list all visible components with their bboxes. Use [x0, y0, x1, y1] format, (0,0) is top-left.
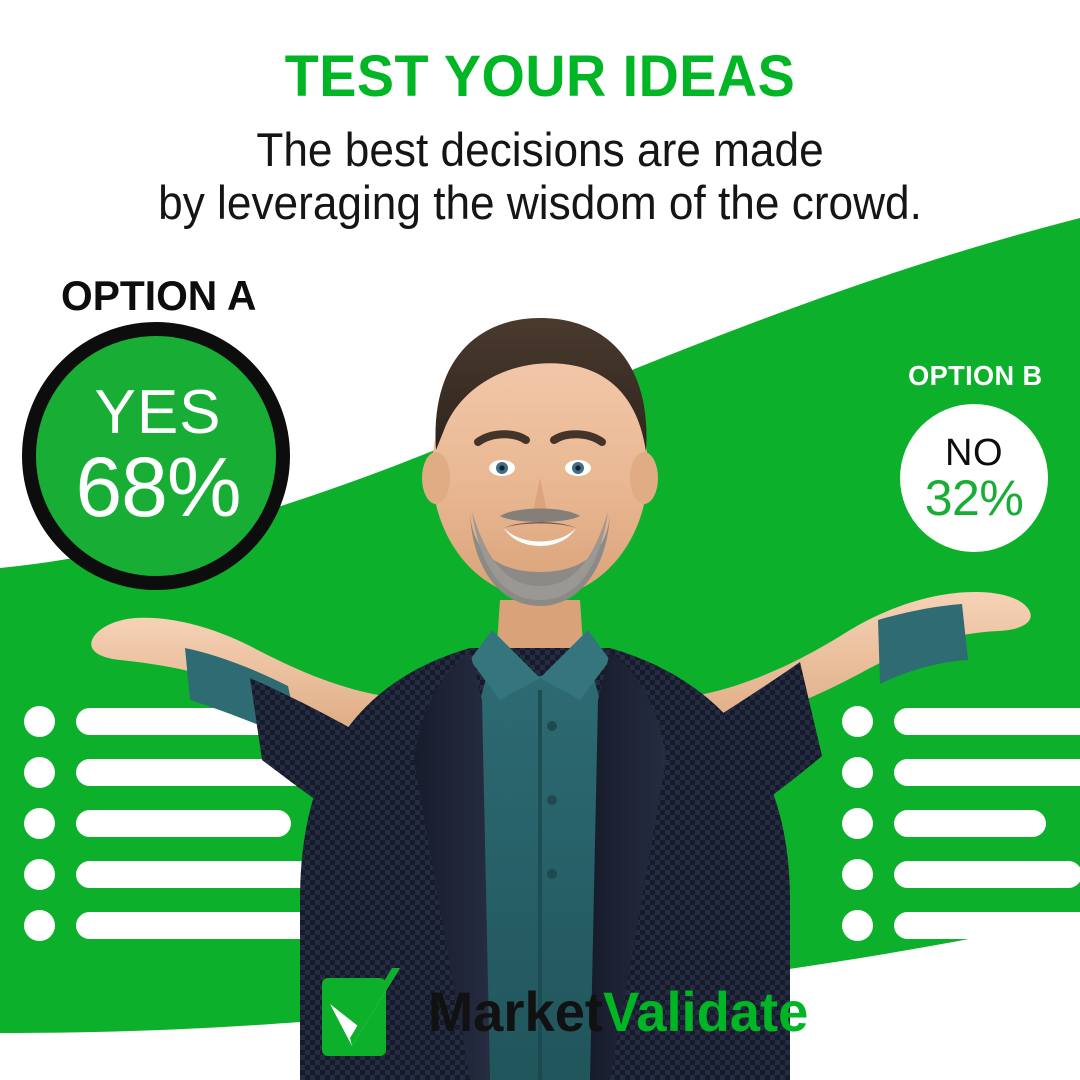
option-b-result-disc[interactable]: NO 32% [900, 404, 1048, 552]
bullet-icon [842, 859, 873, 890]
list-item [842, 859, 1080, 890]
list-item [842, 706, 1080, 737]
bullet-icon [24, 808, 55, 839]
list-placeholder-bar [894, 708, 1080, 735]
list-placeholder-bar [76, 912, 366, 939]
poster-canvas: TEST YOUR IDEAS The best decisions are m… [0, 0, 1080, 1080]
headline-block: TEST YOUR IDEAS The best decisions are m… [0, 48, 1080, 229]
list-item [842, 808, 1080, 839]
option-b-answer: NO [945, 434, 1003, 472]
brand-word-validate: Validate [603, 980, 808, 1043]
decorative-list-right [842, 706, 1080, 961]
brand-wordmark: MarketValidate [428, 984, 808, 1040]
list-placeholder-bar [76, 759, 376, 786]
bullet-icon [24, 706, 55, 737]
list-item [24, 706, 376, 737]
decorative-list-left [24, 706, 376, 961]
subtitle-line-1: The best decisions are made [32, 124, 1047, 177]
bullet-icon [24, 757, 55, 788]
list-item [842, 910, 1080, 941]
list-item [842, 757, 1080, 788]
list-placeholder-bar [894, 912, 1080, 939]
subtitle-line-2: by leveraging the wisdom of the crowd. [32, 177, 1047, 230]
checkmark-icon [322, 968, 400, 1056]
bullet-icon [842, 757, 873, 788]
list-item [24, 859, 376, 890]
page-subtitle: The best decisions are made by leveragin… [32, 124, 1047, 229]
option-a-ring [22, 322, 290, 590]
list-placeholder-bar [894, 759, 1080, 786]
bullet-icon [24, 859, 55, 890]
option-a-label: OPTION A [61, 272, 256, 320]
option-b-label: OPTION B [908, 360, 1042, 392]
list-item [24, 757, 376, 788]
bullet-icon [842, 808, 873, 839]
bullet-icon [842, 910, 873, 941]
list-item [24, 808, 376, 839]
bullet-icon [842, 706, 873, 737]
list-placeholder-bar [894, 810, 1046, 837]
page-title: TEST YOUR IDEAS [22, 48, 1059, 106]
list-placeholder-bar [76, 708, 353, 735]
list-placeholder-bar [76, 810, 291, 837]
list-item [24, 910, 376, 941]
brand-word-market: Market [428, 980, 603, 1043]
option-b-percent: 32% [925, 473, 1024, 523]
bullet-icon [24, 910, 55, 941]
list-placeholder-bar [76, 861, 336, 888]
brand-logo[interactable]: MarketValidate [322, 966, 814, 1058]
list-placeholder-bar [894, 861, 1080, 888]
